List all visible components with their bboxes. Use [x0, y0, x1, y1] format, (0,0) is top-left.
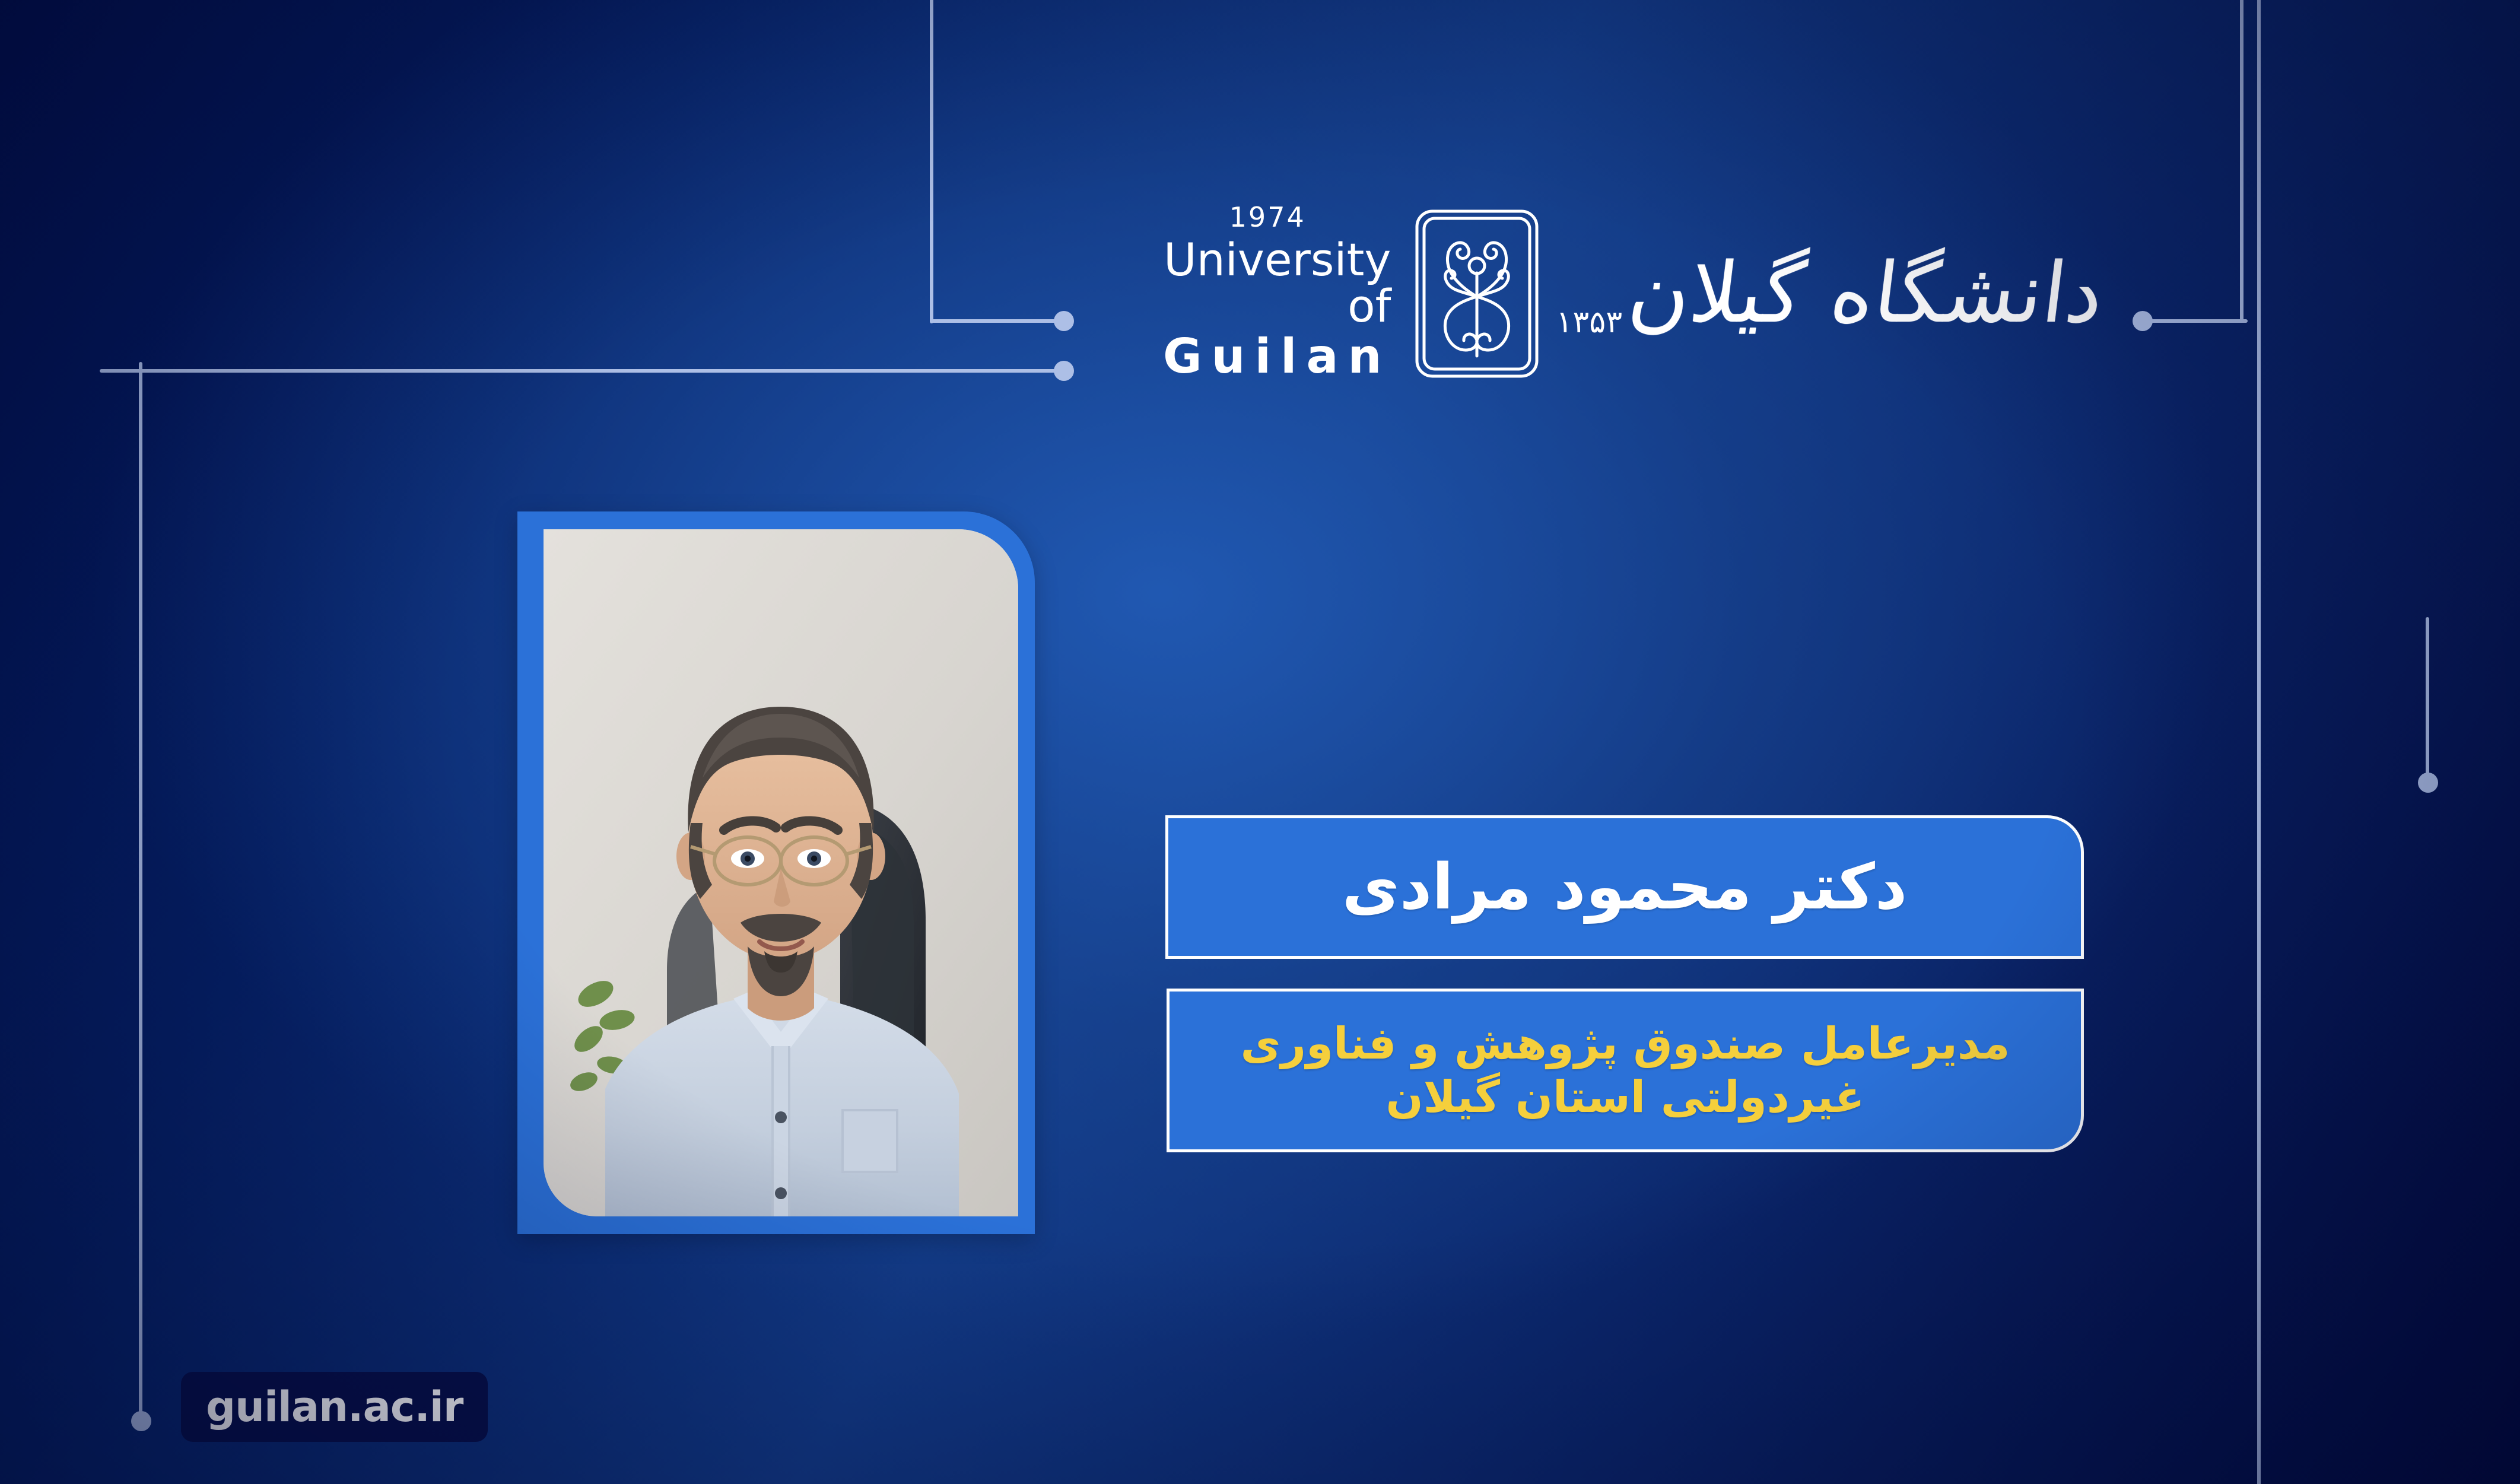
decorative-dot-center-end: [1054, 311, 1074, 331]
person-role-line-1: مدیرعامل صندوق پژوهش و فناوری: [1241, 1017, 2010, 1070]
logo-english-text: 1974 University of Guilan: [1163, 204, 1409, 383]
portrait-illustration: [544, 529, 1018, 1216]
decorative-dot-right-middle-end: [2418, 773, 2438, 793]
decorative-line-right-vertical: [2240, 0, 2243, 322]
decorative-line-left-vertical: [139, 362, 142, 1424]
person-role-line-2: غیردولتی استان گیلان: [1385, 1070, 1864, 1124]
decorative-dot-left-horizontal-end: [1054, 361, 1074, 381]
logo-university-name-persian: دانشگاه گیلان: [1625, 252, 2108, 335]
person-name: دکتر محمود مرادی: [1342, 856, 1907, 919]
logo-university-word: University of: [1163, 237, 1391, 329]
logo-persian-text: ۱۳۵۳ دانشگاه گیلان: [1545, 250, 2109, 338]
decorative-line-right-middle-vertical: [2426, 617, 2429, 783]
decorative-line-left-horizontal: [100, 369, 1066, 373]
decorative-line-center-vertical: [930, 0, 933, 323]
decorative-line-right-horizontal: [2141, 319, 2248, 323]
logo-year-persian: ۱۳۵۳: [1556, 307, 1622, 338]
decorative-dot-right-end: [2133, 311, 2153, 331]
decorative-line-center-horizontal: [932, 319, 1068, 323]
logo-guilan-word: Guilan: [1163, 329, 1391, 384]
university-logo: 1974 University of Guilan ۱۳۵: [1163, 196, 2100, 392]
person-name-banner: دکتر محمود مرادی: [1165, 815, 2084, 959]
guilan-emblem-icon: [1409, 208, 1545, 380]
website-url-badge[interactable]: guilan.ac.ir: [181, 1372, 488, 1442]
website-url-text: guilan.ac.ir: [206, 1383, 463, 1431]
decorative-line-right-edge-vertical: [2257, 0, 2261, 1484]
person-role-banner: مدیرعامل صندوق پژوهش و فناوری غیردولتی ا…: [1167, 989, 2084, 1152]
logo-year-gregorian: 1974: [1163, 204, 1391, 231]
portrait-photo: [544, 529, 1018, 1216]
decorative-dot-left-vertical-end: [131, 1411, 151, 1431]
poster-canvas: 1974 University of Guilan ۱۳۵: [0, 0, 2520, 1484]
